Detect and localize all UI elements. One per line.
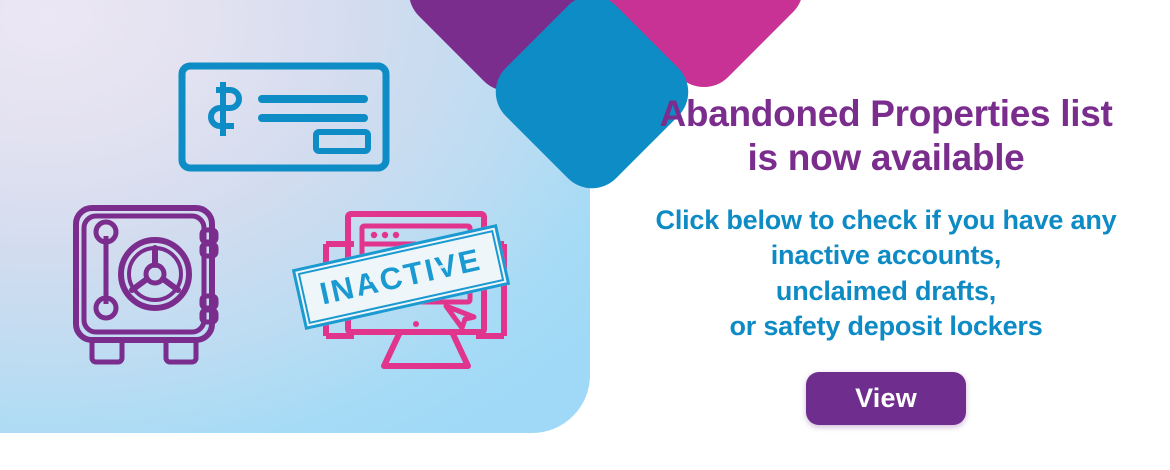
- headline-line-2: is now available: [748, 137, 1025, 178]
- banner-subtitle: Click below to check if you have any ina…: [606, 203, 1166, 343]
- subtitle-line-1: Click below to check if you have any: [606, 203, 1166, 238]
- subtitle-line-2: inactive accounts,: [606, 238, 1166, 273]
- banner-content: Abandoned Properties list is now availab…: [606, 92, 1166, 425]
- promo-banner: INACTIVE Abandoned Properties list is no…: [0, 0, 1170, 470]
- page-title: Abandoned Properties list is now availab…: [606, 92, 1166, 179]
- safe-vault-icon: [62, 200, 232, 372]
- subtitle-line-4: or safety deposit lockers: [606, 309, 1166, 344]
- cheque-icon: [178, 62, 390, 172]
- subtitle-line-3: unclaimed drafts,: [606, 274, 1166, 309]
- cta-container: View: [606, 372, 1166, 425]
- headline-line-1: Abandoned Properties list: [659, 93, 1112, 134]
- view-button[interactable]: View: [806, 372, 966, 425]
